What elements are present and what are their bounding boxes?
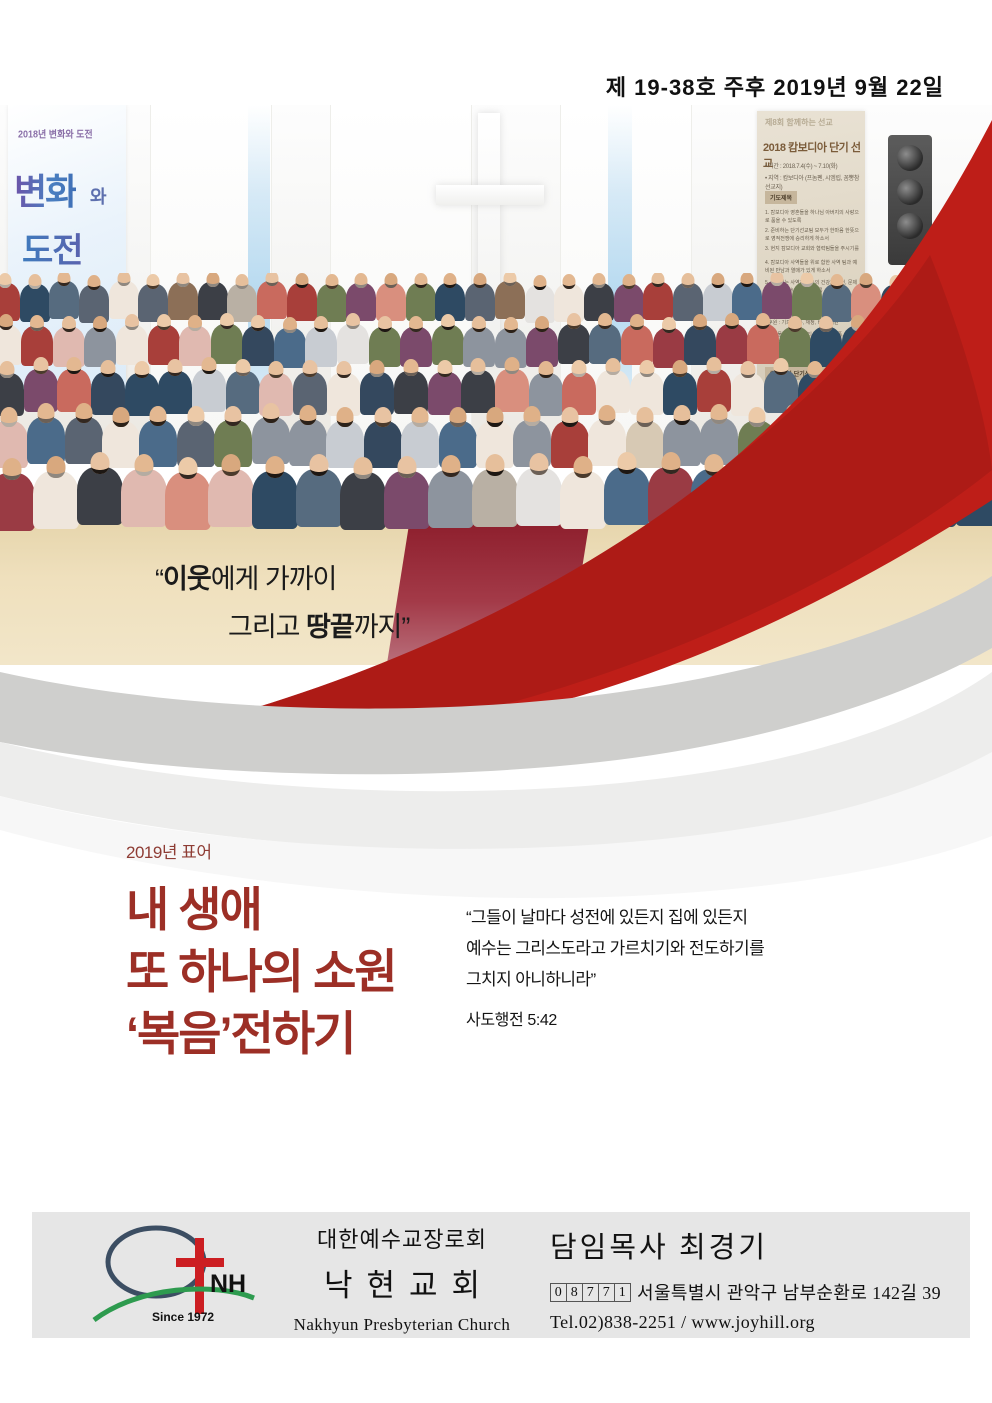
person-body [691, 469, 737, 527]
person-head [262, 403, 279, 423]
slogan-year-label: 2019년 표어 [126, 838, 396, 863]
person-head [90, 452, 109, 474]
person-body [911, 469, 957, 527]
person-head [472, 316, 486, 332]
person-head [823, 403, 840, 423]
person-head [33, 357, 48, 374]
person-body [516, 468, 562, 526]
person-head [504, 317, 518, 333]
person-head [561, 407, 578, 427]
person-head [592, 273, 605, 288]
person-head [673, 360, 688, 377]
person [297, 455, 341, 535]
person-head [617, 452, 636, 474]
person-head [572, 360, 587, 377]
person-head [414, 273, 427, 288]
person-head [861, 406, 878, 426]
church-logo-mark: NH Since 1972 [84, 1220, 259, 1330]
person [78, 455, 122, 535]
postal-digit: 8 [566, 1283, 583, 1302]
person [649, 455, 693, 535]
person-head [302, 360, 317, 377]
person-head [598, 313, 612, 329]
person-head [830, 274, 843, 289]
left-banner-line1: 변화 [14, 163, 76, 215]
person-head [503, 273, 516, 286]
person-head [898, 404, 915, 424]
person-head [693, 314, 707, 330]
person-head [0, 407, 17, 427]
person-head [661, 452, 680, 474]
person-head [134, 361, 149, 378]
postal-digit: 7 [598, 1283, 615, 1302]
postal-digit: 7 [582, 1283, 599, 1302]
person-head [942, 357, 957, 374]
person-head [529, 453, 548, 475]
person-body [779, 471, 825, 529]
person-body [77, 467, 123, 525]
person [385, 455, 429, 535]
person [605, 455, 649, 535]
person-head [157, 314, 171, 330]
person-head [266, 456, 285, 478]
person-head [0, 361, 14, 378]
person [122, 455, 166, 535]
contact-block: 담임목사 최경기 08771 서울특별시 관악구 남부순환로 142길 39 T… [550, 1224, 941, 1333]
person-head [46, 456, 65, 478]
person-head [235, 359, 250, 376]
person [956, 455, 992, 535]
person-head [800, 273, 813, 287]
person-body [604, 467, 650, 525]
person-head [807, 361, 822, 378]
left-banner-subtitle: 2018년 변화와 도전 [18, 126, 93, 140]
right-banner-place: • 지역 : 캄보디아 (프놈펜, 시엠립, 꼼뽕참 선교지) [765, 173, 865, 191]
person-body [648, 467, 694, 525]
postal-digit: 1 [614, 1283, 631, 1302]
person-head [504, 357, 519, 374]
person-head [236, 274, 249, 289]
person-body [823, 468, 869, 526]
person-body [384, 471, 430, 529]
person-head [538, 361, 553, 378]
person [693, 455, 737, 535]
photo-canvas: 2018년 변화와 도전 변화 와 도전 새로운 비전과 함께 도약하는 낙현교… [0, 105, 992, 665]
person-body [867, 471, 913, 529]
person-head [38, 403, 55, 423]
left-banner-particle: 와 [90, 183, 107, 209]
person-head [93, 316, 107, 332]
church-logo: NH Since 1972 [84, 1220, 259, 1330]
person-head [851, 315, 865, 331]
person-head [979, 273, 992, 287]
person-head [269, 361, 284, 378]
person-head [75, 403, 92, 423]
church-name-english: Nakhyun Presbyterian Church [267, 1315, 537, 1335]
person-head [748, 407, 765, 427]
person-head [786, 404, 803, 424]
person-head [310, 454, 329, 476]
red-carpet [387, 523, 589, 665]
person-body [109, 281, 139, 319]
person [780, 455, 824, 535]
person-body [472, 469, 518, 527]
person-head [567, 313, 581, 329]
person-body [495, 281, 525, 319]
right-banner-prayer-chip: 기도제목 [765, 191, 797, 204]
person-head [788, 316, 802, 332]
address-text: 서울특별시 관악구 남부순환로 142길 39 [637, 1279, 941, 1305]
tel-web-line[interactable]: Tel.02)838-2251 / www.joyhill.org [550, 1312, 941, 1333]
person [166, 455, 210, 535]
congregation-photo: 2018년 변화와 도전 변화 와 도전 새로운 비전과 함께 도약하는 낙현교… [0, 105, 992, 665]
person-head [177, 273, 190, 287]
denomination-label: 대한예수교장로회 [267, 1222, 537, 1254]
verse-line-2: 예수는 그리스도라고 가르치기와 전도하기를 [466, 934, 856, 965]
logo-since-text: Since 1972 [152, 1310, 214, 1324]
person-head [793, 456, 812, 478]
right-banner-topline: 제8회 함께하는 선교 [765, 117, 833, 128]
person-head [437, 360, 452, 377]
person-head [949, 273, 962, 287]
person-body [208, 469, 254, 527]
person-body [340, 472, 386, 530]
slogan-line-1: 내 생애 [126, 879, 396, 941]
person-head [524, 406, 541, 426]
person-head [314, 316, 328, 332]
verse-line-3: 그치지 아니하니라” [466, 965, 856, 996]
person-body [0, 473, 35, 531]
postal-digit: 0 [550, 1283, 567, 1302]
person-head [977, 316, 991, 332]
person-head [62, 316, 76, 332]
person-head [881, 456, 900, 478]
person-head [924, 454, 943, 476]
year-slogan-block: 2019년 표어 내 생애 또 하나의 소원 ‘복음’전하기 [126, 838, 396, 1065]
right-banner-prayer-item: 1. 캄보디아 영혼들을 하나님 아버지의 사랑으로 품을 수 있도록 [765, 209, 859, 226]
person-head [409, 316, 423, 332]
person-body [49, 281, 79, 319]
person-head [444, 273, 457, 288]
person-head [0, 273, 11, 288]
person-head [283, 317, 297, 333]
person-head [535, 316, 549, 332]
person-head [87, 275, 100, 290]
person [341, 455, 385, 535]
person-head [976, 357, 991, 374]
person-head [935, 403, 952, 423]
person [429, 455, 473, 535]
person-head [403, 359, 418, 376]
pastor-name: 담임목사 최경기 [550, 1224, 941, 1266]
person-head [860, 273, 873, 288]
gray-swoosh-2 [0, 672, 992, 851]
person-head [299, 405, 316, 425]
church-name-korean: 낙현교회 [267, 1260, 537, 1305]
person-head [674, 405, 691, 425]
person-head [354, 457, 373, 479]
person-head [706, 357, 721, 374]
person-head [819, 316, 833, 332]
person-head [125, 314, 139, 330]
person [824, 455, 868, 535]
person-head [147, 274, 160, 289]
person-body [560, 471, 606, 529]
person-head [622, 274, 635, 289]
person-head [337, 407, 354, 427]
person [561, 455, 605, 535]
person-body [428, 470, 474, 528]
person-head [58, 273, 71, 286]
person-head [201, 357, 216, 374]
person-head [682, 273, 695, 288]
person-head [398, 456, 417, 478]
person [868, 455, 912, 535]
logo-cross-icon [195, 1238, 204, 1314]
right-banner-period: • 기간 : 2018.7.4(수) ~ 7.10(화) [765, 161, 837, 170]
person-head [837, 453, 856, 475]
address-line: 08771 서울특별시 관악구 남부순환로 142길 39 [550, 1279, 941, 1305]
person-head [225, 406, 242, 426]
person-head [168, 359, 183, 376]
person-head [875, 361, 890, 378]
person-head [378, 316, 392, 332]
issue-date-line: 제 19-38호 주후 2019년 9월 22일 [606, 70, 944, 102]
person-body [165, 472, 211, 530]
person [210, 455, 254, 535]
person-head [919, 273, 932, 288]
speaker-icon [888, 135, 932, 265]
bible-verse-block: “그들이 날마다 성전에 있든지 집에 있든지 예수는 그리스도라고 가르치기와… [466, 903, 856, 1030]
person-head [705, 454, 724, 476]
person-head [187, 406, 204, 426]
person-head [441, 314, 455, 330]
person-head [652, 273, 665, 287]
postal-code: 08771 [550, 1283, 630, 1302]
person-head [346, 313, 360, 329]
right-banner-prayer-item: 2. 준비하는 단기선교팀 모두가 한마음 한뜻으로 영적전쟁에 승리하게 하소… [765, 227, 859, 244]
verse-line-1: “그들이 날마다 성전에 있든지 집에 있든지 [466, 903, 856, 934]
person-head [533, 275, 546, 290]
person-head [486, 407, 503, 427]
person-head [774, 358, 789, 375]
person-head [630, 314, 644, 330]
church-name-block: 대한예수교장로회 낙현교회 Nakhyun Presbyterian Churc… [267, 1222, 537, 1335]
person-head [370, 360, 385, 377]
person-head [112, 407, 129, 427]
person-body [296, 469, 342, 527]
slogan-line-2: 또 하나의 소원 [126, 941, 396, 1003]
person-head [711, 273, 724, 288]
person [473, 455, 517, 535]
person [517, 455, 561, 535]
person-body [955, 468, 992, 526]
person-head [2, 458, 21, 480]
person-head [914, 317, 928, 333]
bulletin-page: 제 19-38호 주후 2019년 9월 22일 2018년 변화와 도전 변화… [0, 0, 992, 1403]
person-head [222, 454, 241, 476]
person-head [295, 273, 308, 288]
person-head [946, 317, 960, 333]
person-head [117, 273, 130, 286]
person-head [973, 405, 990, 425]
person-head [220, 313, 234, 329]
person-head [374, 407, 391, 427]
person-head [968, 453, 987, 475]
person-head [30, 315, 44, 331]
person-head [0, 314, 13, 330]
person-head [336, 361, 351, 378]
person-head [206, 273, 219, 287]
person-head [605, 358, 620, 375]
person-head [28, 274, 41, 289]
person-head [471, 358, 486, 375]
person-head [639, 360, 654, 377]
person-head [749, 454, 768, 476]
person-head [741, 273, 754, 287]
person-head [662, 317, 676, 333]
person-body [121, 469, 167, 527]
person-head [188, 315, 202, 331]
person-head [449, 407, 466, 427]
person [736, 455, 780, 535]
person-head [178, 457, 197, 479]
person-body [33, 471, 79, 529]
person-head [485, 454, 504, 476]
person-head [355, 273, 368, 288]
person-head [740, 361, 755, 378]
person-head [442, 455, 461, 477]
footer-band: NH Since 1972 대한예수교장로회 낙현교회 Nakhyun Pres… [32, 1212, 970, 1338]
person-head [908, 359, 923, 376]
person-head [384, 273, 397, 288]
person-head [841, 357, 856, 374]
person-body [735, 469, 781, 527]
person-head [266, 273, 279, 286]
person [0, 455, 34, 535]
person [34, 455, 78, 535]
person-head [325, 274, 338, 289]
person [253, 455, 297, 535]
left-banner-line2: 도전 [22, 223, 83, 272]
person-head [883, 315, 897, 331]
person-head [134, 454, 153, 476]
person-head [771, 273, 784, 286]
person-head [251, 315, 265, 331]
person-body [257, 281, 287, 319]
person-head [563, 274, 576, 289]
person-head [412, 407, 429, 427]
person-head [636, 407, 653, 427]
verse-reference: 사도행전 5:42 [466, 1006, 856, 1030]
person-head [100, 360, 115, 377]
person-head [67, 357, 82, 374]
person-head [756, 313, 770, 329]
person-head [711, 404, 728, 424]
slogan-line-3: ‘복음’전하기 [126, 1003, 396, 1065]
person-head [599, 405, 616, 425]
person-head [889, 275, 902, 290]
person-body [252, 471, 298, 529]
crowd [0, 273, 992, 535]
person-head [150, 406, 167, 426]
person [912, 455, 956, 535]
person-head [573, 456, 592, 478]
person-head [725, 313, 739, 329]
logo-nh-text: NH [210, 1270, 246, 1298]
person-head [474, 273, 487, 288]
right-banner-prayer-item: 3. 현지 캄보디아 교회와 협력팀들을 주시기를 [765, 245, 859, 253]
